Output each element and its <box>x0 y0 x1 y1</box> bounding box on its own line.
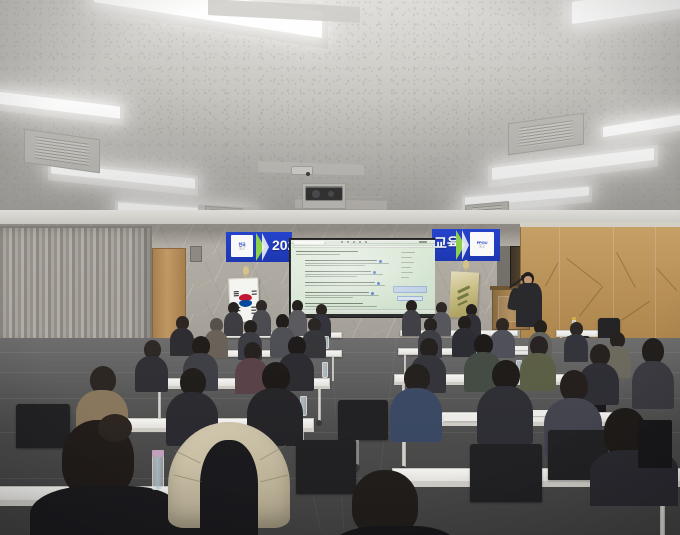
trigram <box>252 294 257 295</box>
body <box>632 361 674 409</box>
wood-groove <box>656 268 677 291</box>
screen-primary-button[interactable] <box>393 286 427 293</box>
body <box>402 310 421 336</box>
trigram <box>252 291 257 292</box>
bottle-cap <box>572 317 576 320</box>
trigram <box>234 295 239 296</box>
body <box>135 356 168 392</box>
body <box>520 353 556 391</box>
screen-sidebar-item <box>401 262 414 263</box>
flag-emblem <box>458 300 468 306</box>
taskbar-icon[interactable] <box>341 241 343 243</box>
screen-text-line <box>305 271 371 272</box>
jacket-inner-gap <box>200 440 258 535</box>
browser-url-bar[interactable] <box>293 245 433 248</box>
chair[interactable] <box>338 400 388 440</box>
screen-text-line <box>305 295 379 296</box>
chair-leg <box>356 440 359 466</box>
wood-wall-top-trim <box>520 222 680 227</box>
handbag <box>638 420 672 468</box>
body <box>390 388 442 442</box>
screen-sidebar-item <box>401 272 413 273</box>
screen-text-line <box>305 265 365 266</box>
table-leg <box>332 357 334 381</box>
logo-sub-text-right: 로고 <box>479 245 485 248</box>
chair[interactable] <box>470 444 542 502</box>
chevron-accent-right-2 <box>462 230 469 260</box>
taskbar-icon[interactable] <box>347 241 349 243</box>
bottle-cap <box>152 450 164 457</box>
seminar-room-photo: 한국 로고 202 교육 PPGU 로고 <box>0 0 680 535</box>
wood-groove <box>616 252 636 288</box>
screen-text-line <box>305 260 377 261</box>
screen-text-line <box>296 251 358 252</box>
chevron-accent-left-2 <box>262 233 269 261</box>
screen-text-line <box>296 254 340 255</box>
flag-emblem <box>457 293 469 301</box>
screen-sidebar-item <box>401 252 415 253</box>
wood-groove <box>579 286 603 317</box>
browser-tab <box>294 241 324 244</box>
organization-logo-right: PPGU 로고 <box>470 232 494 256</box>
screen-text-line <box>305 292 369 293</box>
body <box>452 328 476 357</box>
ceiling-shading <box>0 0 680 232</box>
taskbar-icon[interactable] <box>359 241 361 243</box>
water-bottle <box>322 362 328 378</box>
screen-text-line <box>305 297 353 298</box>
screen-text-line <box>305 276 357 277</box>
flag-emblem <box>457 285 470 293</box>
body <box>224 312 243 336</box>
screen-text-line <box>305 263 389 264</box>
screen-text-line <box>305 274 383 275</box>
ceiling <box>0 0 680 232</box>
body <box>170 328 194 356</box>
hair-bun <box>98 414 132 442</box>
window-curtain <box>0 228 152 346</box>
screen-sidebar-item <box>401 257 412 258</box>
water-bottle <box>152 456 164 490</box>
table-leg <box>158 389 161 421</box>
screen-sidebar-item <box>401 277 409 278</box>
wood-groove <box>566 258 601 286</box>
screen-sidebar-item <box>401 267 411 268</box>
body <box>564 334 588 362</box>
table-caster <box>316 420 322 426</box>
screen-text-line <box>305 285 385 286</box>
wall-speaker <box>190 246 202 262</box>
handout-paper <box>444 414 480 421</box>
taskbar-clock-icon <box>419 241 427 243</box>
taskbar-icon[interactable] <box>365 241 367 243</box>
taskbar-icon[interactable] <box>353 241 355 243</box>
screen-text-line <box>305 282 375 283</box>
wood-groove <box>621 301 650 321</box>
table-leg <box>318 389 321 421</box>
wood-groove <box>545 263 558 286</box>
screen-text-line <box>305 303 363 304</box>
organization-logo-left: 한국 로고 <box>231 235 253 257</box>
body <box>477 386 533 444</box>
chair[interactable] <box>16 404 70 448</box>
chair[interactable] <box>296 440 356 494</box>
logo-sub-text-left: 로고 <box>239 247 245 250</box>
